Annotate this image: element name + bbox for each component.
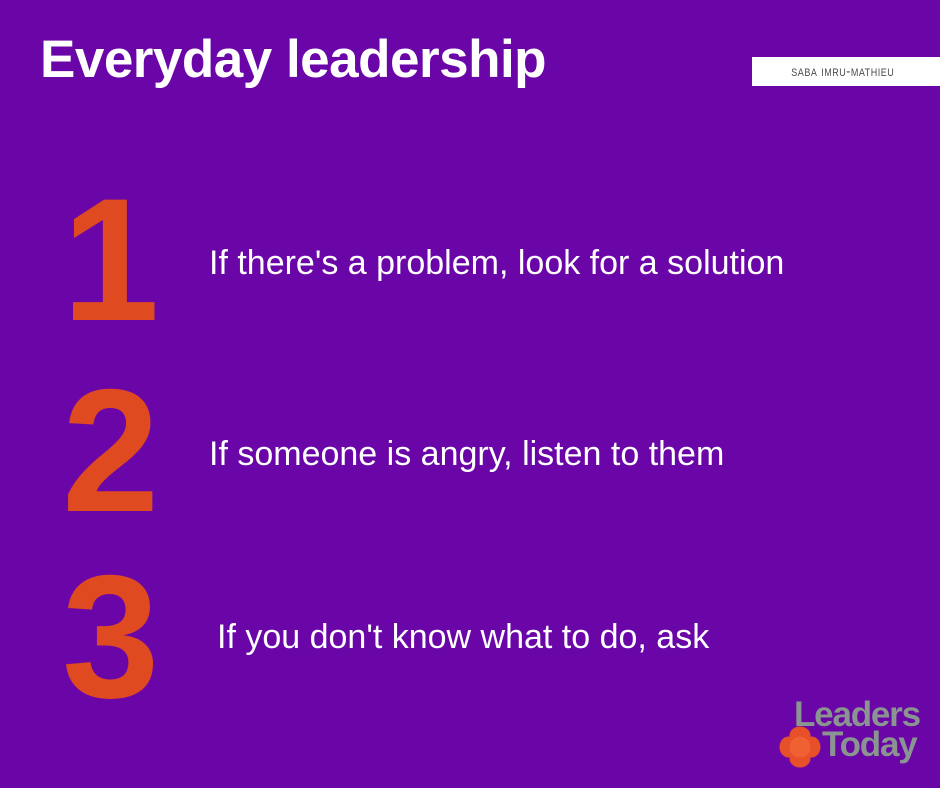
slide-canvas: Everyday leadership Saba Imru-Mathieu 1 … bbox=[0, 0, 940, 788]
list-item-number: 1 bbox=[62, 186, 182, 337]
list-item-number: 2 bbox=[62, 377, 182, 528]
numbered-list: 1 If there's a problem, look for a solut… bbox=[0, 0, 940, 788]
four-petal-flower-icon bbox=[778, 725, 822, 769]
leaders-today-logo: Leaders Today bbox=[778, 697, 928, 769]
list-item-number: 3 bbox=[62, 563, 182, 714]
list-item-text: If someone is angry, listen to them bbox=[209, 434, 724, 475]
list-item-text: If you don't know what to do, ask bbox=[217, 617, 709, 658]
list-item-text: If there's a problem, look for a solutio… bbox=[209, 243, 784, 284]
logo-text-today: Today bbox=[822, 727, 916, 762]
